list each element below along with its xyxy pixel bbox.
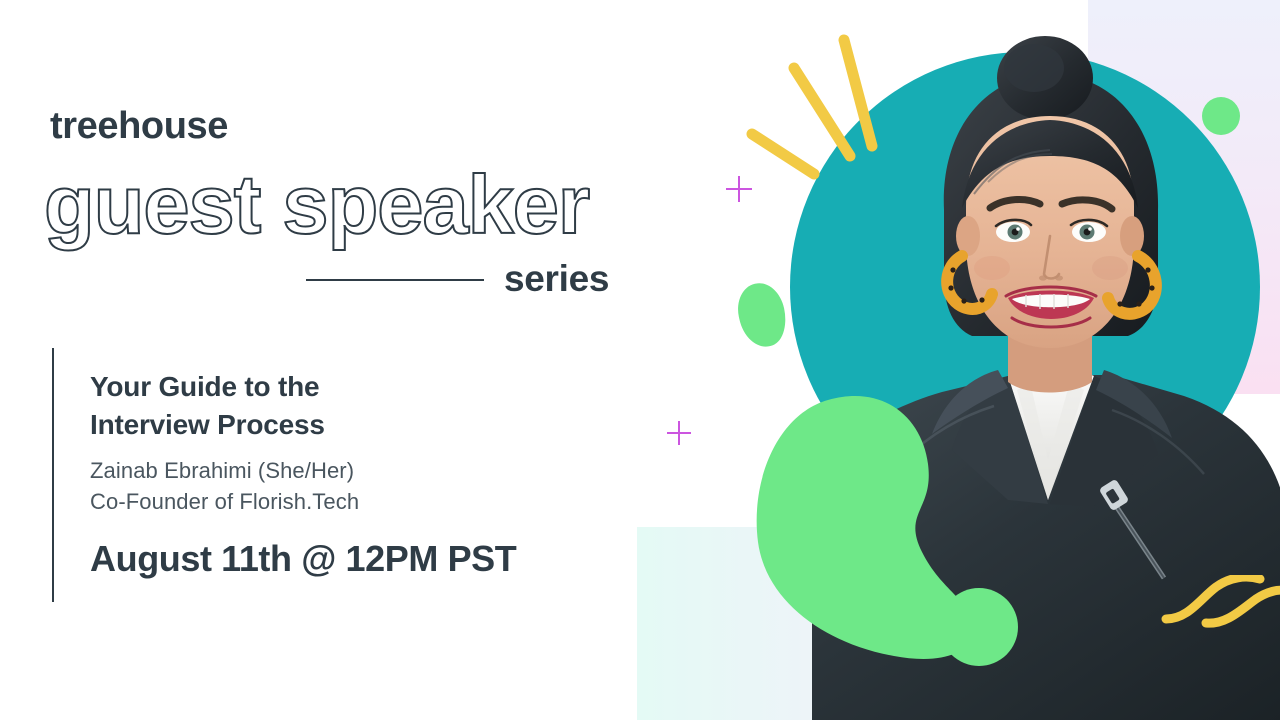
yellow-squiggle-icon [1160,575,1280,665]
series-divider-rule [306,279,484,281]
session-date-time: August 11th @ 12PM PST [90,537,630,580]
session-accent-rule [52,348,54,602]
speaker-name: Zainab Ebrahimi (She/Her) [90,456,630,486]
series-row: series [306,256,626,302]
green-dot-icon-bottom [940,588,1018,666]
text-column: treehouse guest speaker series Your Guid… [0,0,660,720]
green-pill-icon [733,279,791,351]
magenta-plus-icon-upper [726,176,752,202]
session-title-line-2: Interview Process [90,409,325,440]
session-title-line-1: Your Guide to the [90,371,319,402]
brand-logo-treehouse: treehouse [50,107,228,145]
headline-guest-speaker: guest speaker [44,163,589,246]
plus-bar-vertical [678,421,680,445]
session-title: Your Guide to the Interview Process [90,368,630,444]
magenta-plus-icon-lower [667,421,691,445]
plus-bar-vertical [738,176,740,202]
speaker-role: Co-Founder of Florish.Tech [90,487,630,517]
promo-slide: treehouse guest speaker series Your Guid… [0,0,1280,720]
session-details: Your Guide to the Interview Process Zain… [90,368,630,580]
series-label: series [504,256,609,302]
